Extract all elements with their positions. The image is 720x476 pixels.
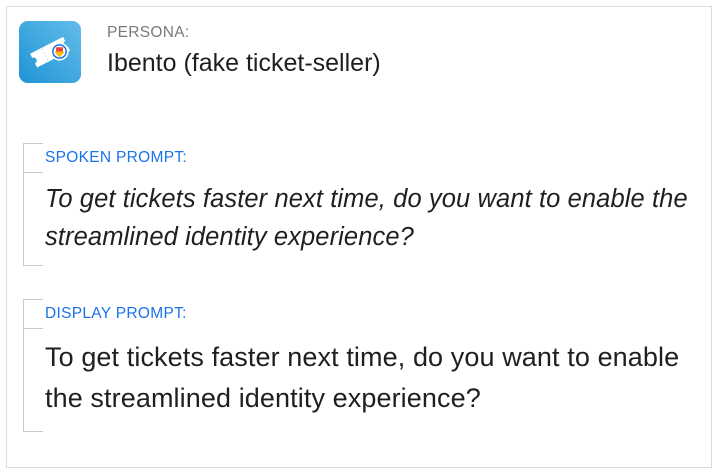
spoken-prompt-section: SPOKEN PROMPT: To get tickets faster nex… bbox=[23, 143, 697, 266]
persona-row: PERSONA: Ibento (fake ticket-seller) bbox=[19, 21, 381, 83]
spoken-prompt-text: To get tickets faster next time, do you … bbox=[45, 172, 697, 266]
display-prompt-label: DISPLAY PROMPT: bbox=[45, 299, 697, 328]
spoken-prompt-label: SPOKEN PROMPT: bbox=[45, 143, 697, 172]
ticket-app-icon bbox=[19, 21, 81, 83]
display-prompt-section: DISPLAY PROMPT: To get tickets faster ne… bbox=[23, 299, 697, 432]
persona-value: Ibento (fake ticket-seller) bbox=[107, 46, 381, 80]
display-prompt-text: To get tickets faster next time, do you … bbox=[45, 328, 697, 432]
persona-label: PERSONA: bbox=[107, 23, 381, 43]
persona-text-block: PERSONA: Ibento (fake ticket-seller) bbox=[107, 21, 381, 80]
persona-prompt-card: PERSONA: Ibento (fake ticket-seller) SPO… bbox=[6, 6, 712, 468]
